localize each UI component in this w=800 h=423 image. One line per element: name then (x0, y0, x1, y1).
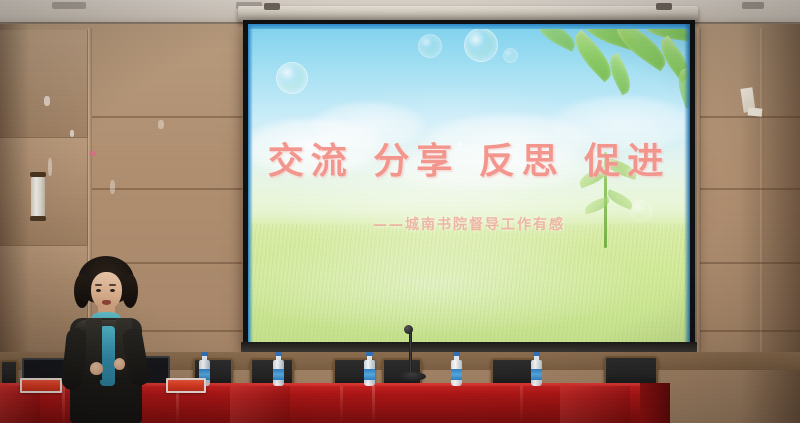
presenter-hair-side (74, 274, 90, 308)
wall-scuff (48, 158, 52, 176)
presenter (60, 256, 152, 423)
wall-mark (89, 151, 96, 156)
screen-bottom-weight-bar (241, 342, 697, 352)
presenter-eye (96, 289, 101, 292)
screen-edge-left (248, 24, 253, 344)
microphone-head-icon (404, 325, 413, 334)
tablecloth-drape (560, 386, 630, 423)
bubble (418, 34, 442, 58)
microphone-base (398, 372, 426, 381)
ceiling-vent-icon (742, 2, 764, 9)
presenter-hand (114, 358, 125, 370)
wall-seam (697, 28, 701, 358)
wall-seam (700, 188, 800, 190)
tablecloth-fold (372, 386, 375, 423)
wall-sconce-light-icon (30, 172, 46, 222)
name-placard (166, 378, 206, 393)
sprout-leaf-icon (605, 189, 635, 210)
ceiling-vent-icon (52, 2, 86, 9)
screen-edge-top (248, 24, 690, 29)
water-bottle (531, 352, 542, 386)
wall-seam (92, 116, 242, 118)
name-placard (20, 378, 62, 393)
slide-subtitle: ——城南书院督导工作有感 (248, 214, 690, 234)
microphone-gooseneck (409, 330, 412, 374)
water-bottle (451, 352, 462, 386)
wall-seam (760, 28, 764, 358)
presenter-scarf-tail (100, 326, 115, 386)
tablecloth-drape (230, 386, 290, 423)
presenter-brow (109, 284, 116, 286)
wall-seam (700, 262, 800, 264)
water-bottle (273, 352, 284, 386)
tablecloth-fold (340, 386, 343, 423)
bubble (276, 62, 308, 94)
wall-scuff (70, 130, 74, 137)
wall-paper-note (748, 107, 763, 116)
tablecloth-fold (520, 386, 523, 423)
presenter-hair-side (122, 274, 138, 308)
presenter-hand (90, 362, 103, 375)
presenter-mouth (102, 300, 111, 305)
presenter-brow (95, 284, 102, 286)
screen-edge-right (684, 24, 690, 344)
table-right-end (640, 383, 670, 423)
projection-screen: 交流 分享 反思 促进 ——城南书院督导工作有感 (248, 24, 690, 344)
bubble (464, 28, 498, 62)
wall-scuff (158, 120, 164, 129)
water-bottle (364, 352, 375, 386)
wall-scuff (110, 180, 115, 194)
presenter-eye (110, 289, 115, 292)
slide-title: 交流 分享 反思 促进 (248, 132, 690, 184)
bubble (503, 48, 518, 63)
grass-texture (248, 224, 690, 344)
wall-seam (700, 116, 800, 118)
wall-seam (700, 330, 800, 332)
wall-panel (0, 30, 88, 138)
wall-scuff (44, 96, 50, 106)
conference-hall-photo: 交流 分享 反思 促进 ——城南书院督导工作有感 (0, 0, 800, 423)
